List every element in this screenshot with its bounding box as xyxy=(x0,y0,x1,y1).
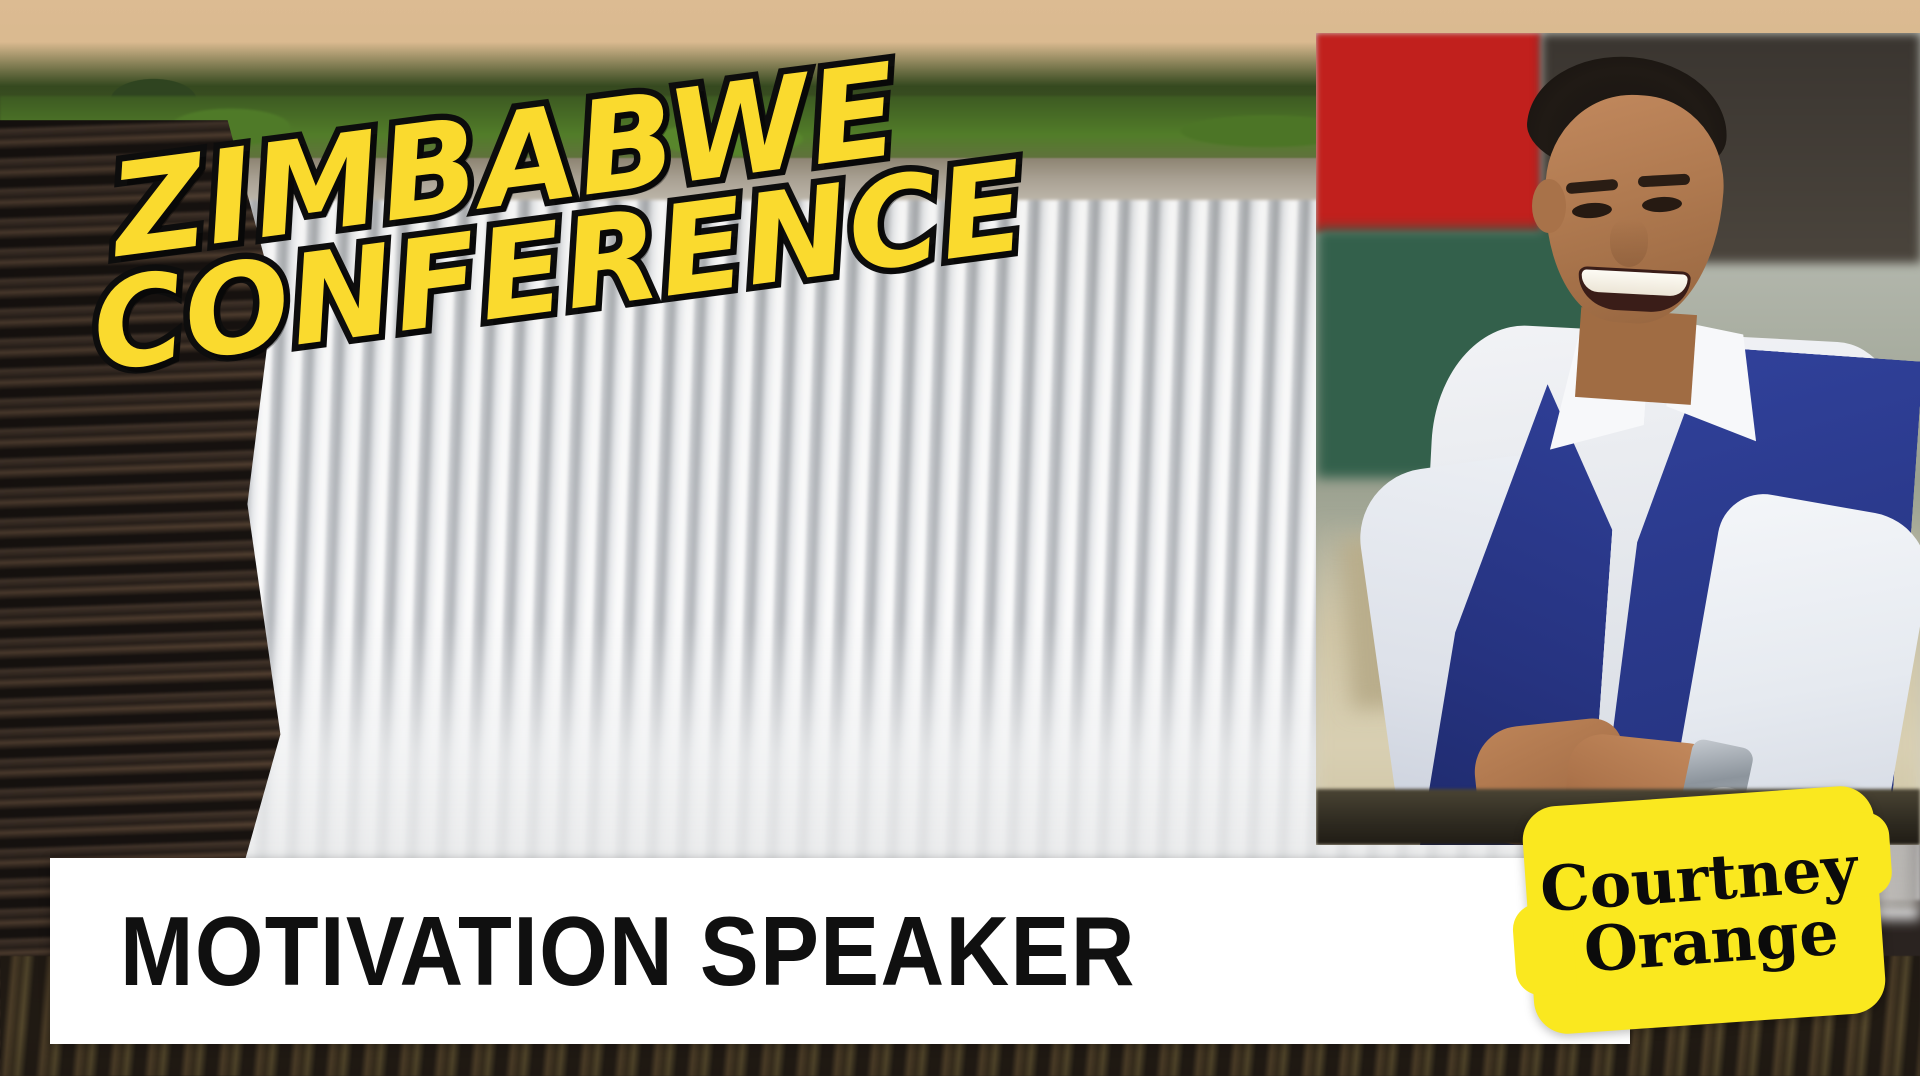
nose xyxy=(1610,219,1648,267)
speaker-photo-panel xyxy=(1316,33,1920,845)
thumbnail-canvas: ZIMBABWE CONFERENCE MOTIVATION SPEAKER C… xyxy=(0,0,1920,1076)
bottom-banner: MOTIVATION SPEAKER xyxy=(50,858,1630,1044)
teeth xyxy=(1581,269,1688,297)
speaker-figure xyxy=(1316,33,1920,845)
speaker-name-badge: Courtney Orange xyxy=(1520,784,1887,1036)
badge-last-name: Orange xyxy=(1582,901,1841,982)
ear xyxy=(1532,179,1566,233)
banner-title: MOTIVATION SPEAKER xyxy=(120,902,1136,1000)
